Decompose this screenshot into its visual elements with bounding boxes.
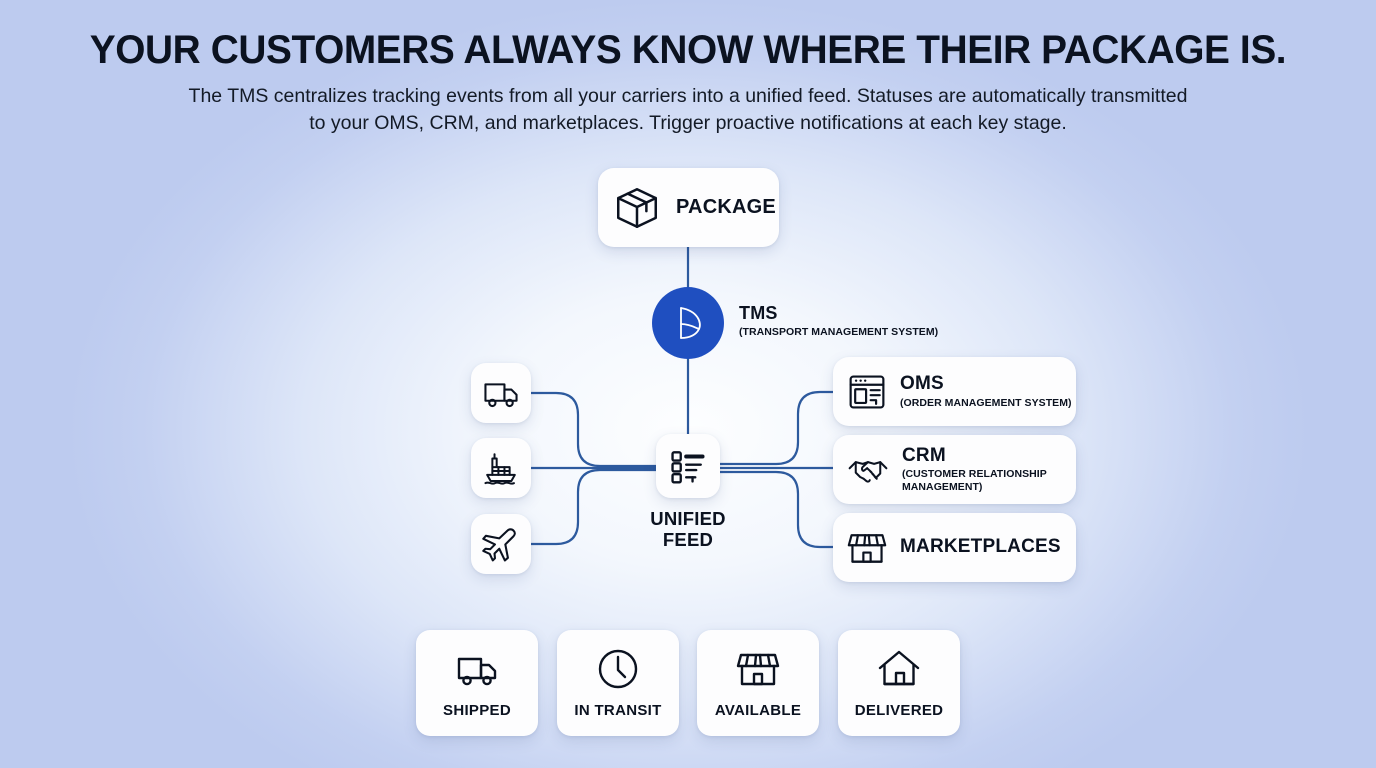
node-tms-sublabel: (TRANSPORT MANAGEMENT SYSTEM) xyxy=(739,326,938,339)
checklist-feed-icon xyxy=(668,446,708,486)
house-icon xyxy=(877,647,921,691)
feed-label-line-1: UNIFIED xyxy=(608,508,768,529)
node-carrier-truck[interactable] xyxy=(471,363,531,423)
storefront-icon xyxy=(847,528,887,568)
page-subtitle: The TMS centralizes tracking events from… xyxy=(0,83,1376,137)
node-unified-feed-label: UNIFIED FEED xyxy=(608,508,768,550)
infographic-canvas: YOUR CUSTOMERS ALWAYS KNOW WHERE THEIR P… xyxy=(0,0,1376,768)
package-box-icon xyxy=(612,183,662,233)
status-card-in-transit[interactable]: IN TRANSIT xyxy=(557,630,679,736)
node-tms[interactable] xyxy=(652,287,724,359)
status-card-shipped-label: SHIPPED xyxy=(443,702,511,719)
node-oms-sublabel: (ORDER MANAGEMENT SYSTEM) xyxy=(900,397,1072,410)
feed-label-line-2: FEED xyxy=(608,529,768,550)
storefront-icon xyxy=(736,647,780,691)
cargo-ship-icon xyxy=(482,449,520,487)
header: YOUR CUSTOMERS ALWAYS KNOW WHERE THEIR P… xyxy=(0,28,1376,137)
node-tms-label: TMS xyxy=(739,304,938,323)
truck-icon xyxy=(455,647,499,691)
node-package-label: PACKAGE xyxy=(676,197,776,219)
node-crm-label: CRM xyxy=(902,446,1047,467)
dashboard-window-icon xyxy=(847,372,887,412)
page-title: YOUR CUSTOMERS ALWAYS KNOW WHERE THEIR P… xyxy=(21,28,1356,73)
node-marketplaces-text: MARKETPLACES xyxy=(900,537,1061,558)
node-carrier-plane[interactable] xyxy=(471,514,531,574)
node-crm-sublabel-line-1: (CUSTOMER RELATIONSHIP xyxy=(902,468,1047,480)
handshake-icon xyxy=(847,449,889,491)
status-card-delivered-label: DELIVERED xyxy=(855,702,944,719)
status-card-available[interactable]: AVAILABLE xyxy=(697,630,819,736)
node-oms[interactable]: OMS (ORDER MANAGEMENT SYSTEM) xyxy=(833,357,1076,426)
subtitle-line-2: to your OMS, CRM, and marketplaces. Trig… xyxy=(0,110,1376,137)
status-card-delivered[interactable]: DELIVERED xyxy=(838,630,960,736)
truck-icon xyxy=(482,374,520,412)
clock-icon xyxy=(596,647,640,691)
node-tms-text: TMS (TRANSPORT MANAGEMENT SYSTEM) xyxy=(739,304,938,339)
status-card-available-label: AVAILABLE xyxy=(715,702,801,719)
status-card-shipped[interactable]: SHIPPED xyxy=(416,630,538,736)
node-marketplaces-label: MARKETPLACES xyxy=(900,537,1061,558)
status-card-in-transit-label: IN TRANSIT xyxy=(574,702,661,719)
node-package-text: PACKAGE xyxy=(676,197,776,219)
wire-truck-to-feed xyxy=(531,393,656,466)
subtitle-line-1: The TMS centralizes tracking events from… xyxy=(0,83,1376,110)
airplane-icon xyxy=(482,525,520,563)
node-marketplaces[interactable]: MARKETPLACES xyxy=(833,513,1076,582)
wire-feed-to-oms xyxy=(720,392,833,464)
node-crm-sublabel: (CUSTOMER RELATIONSHIP MANAGEMENT) xyxy=(902,468,1047,493)
node-oms-label: OMS xyxy=(900,374,1072,395)
node-crm[interactable]: CRM (CUSTOMER RELATIONSHIP MANAGEMENT) xyxy=(833,435,1076,504)
node-carrier-ship[interactable] xyxy=(471,438,531,498)
node-crm-sublabel-line-2: MANAGEMENT) xyxy=(902,481,982,493)
node-package[interactable]: PACKAGE xyxy=(598,168,779,247)
tms-leaf-logo-icon xyxy=(668,303,708,343)
node-crm-text: CRM (CUSTOMER RELATIONSHIP MANAGEMENT) xyxy=(902,446,1047,494)
node-oms-text: OMS (ORDER MANAGEMENT SYSTEM) xyxy=(900,374,1072,409)
node-unified-feed[interactable] xyxy=(656,434,720,498)
